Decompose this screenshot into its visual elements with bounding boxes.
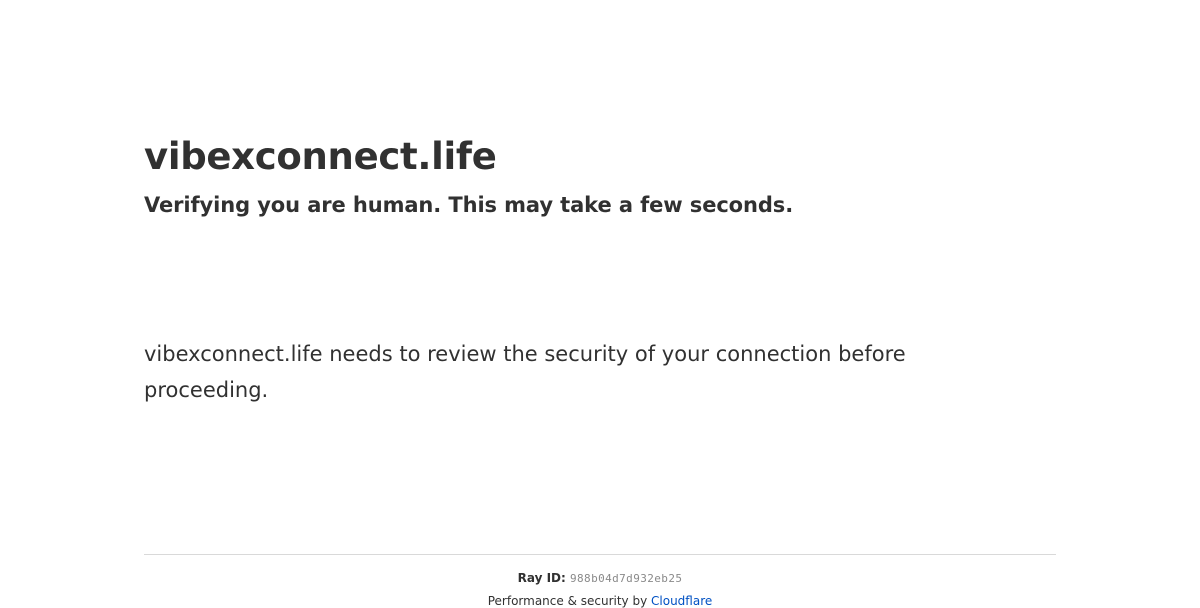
ray-id-label: Ray ID: (518, 571, 570, 585)
challenge-description: vibexconnect.life needs to review the se… (144, 336, 944, 408)
cloudflare-link[interactable]: Cloudflare (651, 594, 712, 608)
turnstile-widget-frame[interactable] (144, 245, 444, 310)
verification-status-text: Verifying you are human. This may take a… (144, 191, 1056, 219)
challenge-content: vibexconnect.life Verifying you are huma… (144, 0, 1056, 408)
ray-id-value: 988b04d7d932eb25 (570, 572, 682, 585)
attribution-line: Performance & security by Cloudflare (144, 586, 1056, 608)
page-title: vibexconnect.life (144, 133, 1056, 181)
challenge-heading-block: vibexconnect.life Verifying you are huma… (144, 0, 1056, 219)
challenge-page: vibexconnect.life Verifying you are huma… (0, 0, 1200, 600)
ray-id-line: Ray ID: 988b04d7d932eb25 (144, 555, 1056, 586)
attribution-prefix: Performance & security by (488, 594, 651, 608)
turnstile-challenge-widget[interactable] (144, 245, 444, 310)
